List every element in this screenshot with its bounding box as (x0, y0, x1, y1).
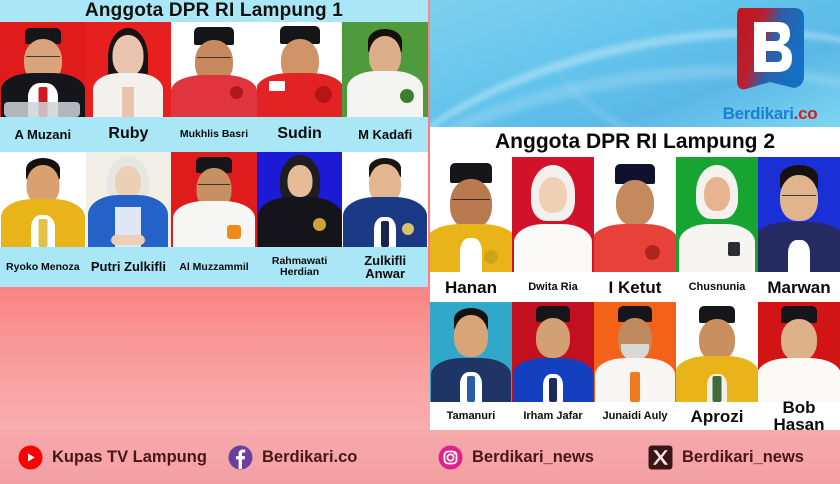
social-label: Berdikari_news (682, 448, 804, 467)
portrait-aprozi (676, 302, 758, 402)
x-twitter-icon (648, 445, 673, 470)
portrait-m-kadafi (342, 22, 428, 117)
portrait-a-muzani (0, 22, 86, 117)
portrait-bob-hasan (758, 302, 840, 402)
brand-main: Berdikari (723, 104, 794, 123)
lampung-1-photo-row-1 (0, 22, 428, 117)
social-label: Berdikari.co (262, 448, 357, 467)
name-label: Aprozi (676, 402, 758, 430)
lampung-2-names-row-2: Tamanuri Irham Jafar Junaidi Auly Aprozi… (430, 402, 840, 430)
portrait-al-muzzammil (171, 152, 257, 247)
name-label: Irham Jafar (512, 402, 594, 430)
name-label: I Ketut (594, 272, 676, 302)
portrait-ryoko-menoza (0, 152, 86, 247)
portrait-sudin (257, 22, 343, 117)
lampung-2-names-row-1: Hanan Dwita Ria I Ketut Chusnunia Marwan (430, 272, 840, 302)
name-label: Junaidi Auly (594, 402, 676, 430)
portrait-ruby (86, 22, 172, 117)
portrait-zulkifli-anwar (342, 152, 428, 247)
portrait-junaidi-auly (594, 302, 676, 402)
name-label: M Kadafi (342, 117, 428, 152)
name-label: Sudin (257, 117, 343, 152)
lampung-1-card: Anggota DPR RI Lampung 1 (0, 0, 428, 287)
name-label: Mukhlis Basri (171, 117, 257, 152)
social-link-youtube[interactable]: Kupas TV Lampung (0, 445, 210, 470)
lampung-2-photo-row-1 (430, 157, 840, 272)
lampung-1-names-row-1: A Muzani Ruby Mukhlis Basri Sudin M Kada… (0, 117, 428, 152)
name-label: Bob Hasan (758, 402, 840, 430)
name-label: Hanan (430, 272, 512, 302)
name-label: Putri Zulkifli (86, 247, 172, 287)
portrait-i-ketut (594, 157, 676, 272)
lampung-2-photo-row-2 (430, 302, 840, 402)
name-label: A Muzani (0, 117, 86, 152)
portrait-putri-zulkifli (86, 152, 172, 247)
lampung-1-title: Anggota DPR RI Lampung 1 (0, 0, 428, 22)
name-label: Al Muzzammil (171, 247, 257, 287)
portrait-dwita-ria (512, 157, 594, 272)
lampung-2-card: Anggota DPR RI Lampung 2 (430, 127, 840, 430)
brand-header: Berdikari.co (430, 0, 840, 127)
lampung-1-names-row-2: Ryoko Menoza Putri Zulkifli Al Muzzammil… (0, 247, 428, 287)
portrait-mukhlis-basri (171, 22, 257, 117)
social-label: Kupas TV Lampung (52, 448, 207, 467)
social-link-x-twitter[interactable]: Berdikari_news (630, 445, 840, 470)
youtube-icon (18, 445, 43, 470)
lampung-1-photo-row-2 (0, 152, 428, 247)
poster-canvas: Anggota DPR RI Lampung 1 (0, 0, 840, 484)
social-label: Berdikari_news (472, 448, 594, 467)
social-link-instagram[interactable]: Berdikari_news (420, 445, 630, 470)
berdikari-b-mark-icon (734, 6, 806, 92)
berdikari-logo[interactable]: Berdikari.co (718, 6, 822, 124)
portrait-marwan (758, 157, 840, 272)
name-label: Marwan (758, 272, 840, 302)
instagram-icon (438, 445, 463, 470)
portrait-tamanuri (430, 302, 512, 402)
social-media-bar: Kupas TV Lampung Berdikari.co Berdikari_… (0, 430, 840, 484)
portrait-irham-jafar (512, 302, 594, 402)
portrait-chusnunia (676, 157, 758, 272)
name-label: Ryoko Menoza (0, 247, 86, 287)
lampung-2-title: Anggota DPR RI Lampung 2 (430, 127, 840, 157)
name-label: Dwita Ria (512, 272, 594, 302)
name-label: Tamanuri (430, 402, 512, 430)
social-link-facebook[interactable]: Berdikari.co (210, 445, 420, 470)
portrait-hanan (430, 157, 512, 272)
portrait-rahmawati-herdian (257, 152, 343, 247)
berdikari-wordmark: Berdikari.co (718, 104, 822, 124)
name-label: Chusnunia (676, 272, 758, 302)
brand-tld: .co (794, 104, 818, 123)
name-label: Zulkifli Anwar (342, 247, 428, 287)
name-label: Ruby (86, 117, 172, 152)
facebook-icon (228, 445, 253, 470)
name-label: Rahmawati Herdian (257, 247, 343, 287)
